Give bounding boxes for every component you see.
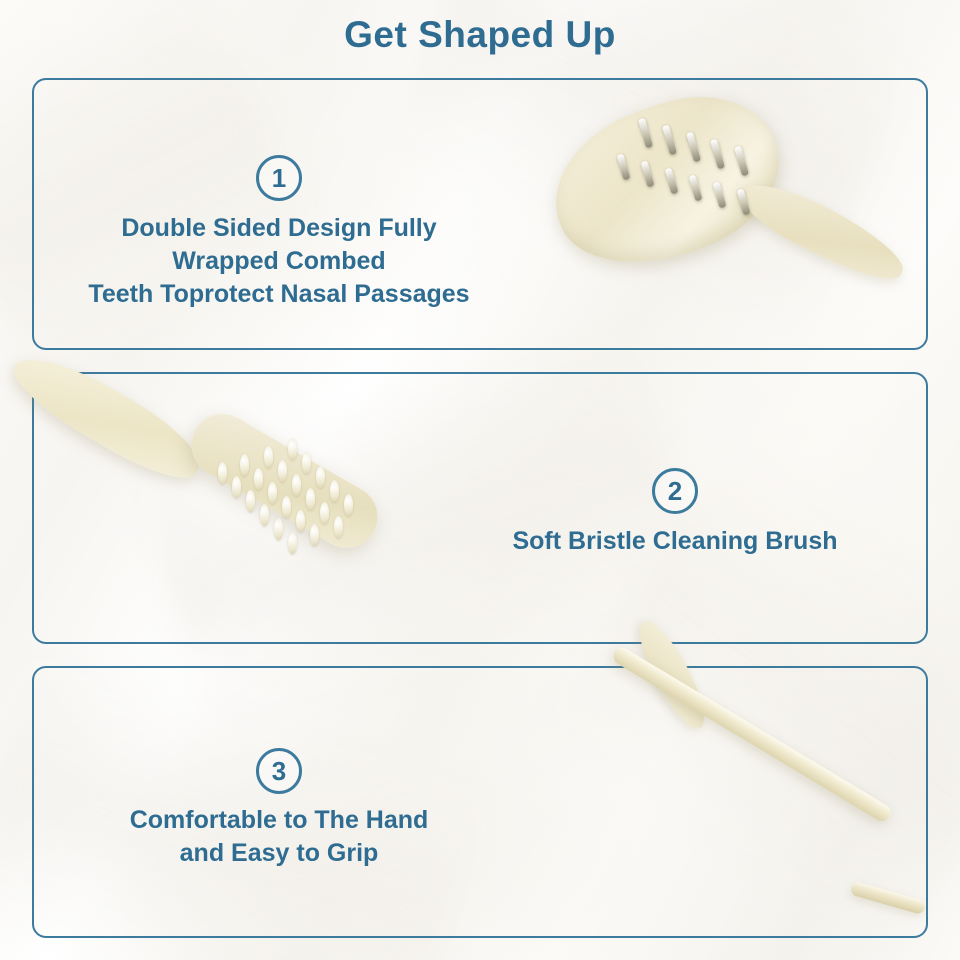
feature-caption-1: Double Sided Design Fully Wrapped Combed…	[48, 212, 510, 311]
step-badge-3: 3	[256, 748, 302, 794]
feature-card-3	[32, 666, 928, 938]
feature-caption-3: Comfortable to The Hand and Easy to Grip	[48, 804, 510, 870]
page-title: Get Shaped Up	[0, 14, 960, 56]
product-feature-infographic: Get Shaped Up 1 Double Sided Design Full…	[0, 0, 960, 960]
feature-caption-2: Soft Bristle Cleaning Brush	[455, 525, 895, 558]
feature-card-2	[32, 372, 928, 644]
step-badge-1: 1	[256, 155, 302, 201]
step-badge-2: 2	[652, 468, 698, 514]
